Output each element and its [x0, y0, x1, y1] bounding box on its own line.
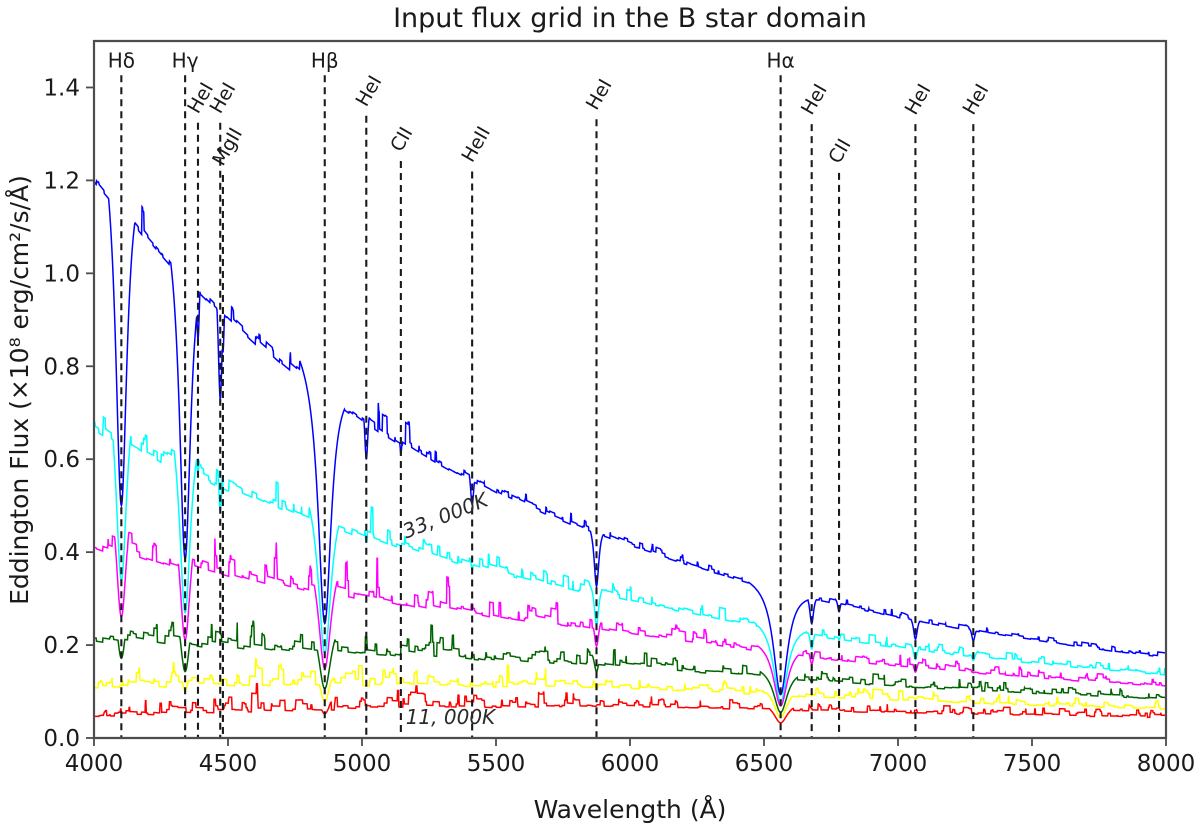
line-label-HeI-7065: HeI — [901, 80, 936, 118]
x-tick-label-5000: 5000 — [333, 751, 392, 777]
y-tick-label-0.0: 0.0 — [43, 726, 80, 752]
x-tick-label-7000: 7000 — [869, 751, 928, 777]
x-tick-label-4500: 4500 — [199, 751, 258, 777]
x-tick-label-8000: 8000 — [1137, 751, 1196, 777]
spectral-flux-chart: Input flux grid in the B star domain HδH… — [0, 0, 1200, 830]
y-tick-label-0.2: 0.2 — [43, 633, 80, 659]
y-tick-label-0.8: 0.8 — [43, 354, 80, 380]
spectrum-curve-33000K — [94, 181, 1166, 695]
spectrum-curve-13000K — [94, 659, 1166, 718]
line-label-HeII-5411: HeII — [457, 123, 495, 166]
line-label-CII-5145: CII — [386, 123, 417, 155]
line-label-HeI-4471: HeI — [206, 79, 241, 117]
spectral-line-markers: HδHγHeIHeIMgIIHβHeICIIHeIIHeIHαHeICIIHeI… — [108, 48, 994, 738]
annotation-11000K: 11, 000K — [406, 705, 497, 729]
y-axis-title: Eddington Flux (×10⁸ erg/cm²/s/Å) — [5, 175, 34, 605]
x-tick-label-4000: 4000 — [65, 751, 124, 777]
y-tick-label-1.2: 1.2 — [43, 168, 80, 194]
x-tick-label-6000: 6000 — [601, 751, 660, 777]
y-tick-label-1.0: 1.0 — [43, 261, 80, 287]
x-tick-label-7500: 7500 — [1003, 751, 1062, 777]
spectrum-curve-20000K — [94, 532, 1166, 705]
line-label-HeI-5875: HeI — [582, 75, 617, 113]
spectrum-curve-25000K — [94, 417, 1166, 702]
line-label-H-4340: Hγ — [172, 48, 199, 72]
line-label-HeI-6678: HeI — [797, 80, 832, 118]
y-tick-label-0.4: 0.4 — [43, 540, 80, 566]
spectra-curves — [94, 181, 1166, 723]
line-label-CII-6780: CII — [824, 135, 855, 167]
chart-canvas: Input flux grid in the B star domain HδH… — [0, 0, 1200, 830]
line-label-H-4861: Hβ — [311, 48, 339, 72]
x-tick-label-5500: 5500 — [467, 751, 526, 777]
line-label-H-4102: Hδ — [108, 48, 135, 72]
line-label-MgII-4481: MgII — [208, 124, 247, 169]
line-label-HeI-7281: HeI — [959, 80, 994, 118]
annotation-33000K: 33, 000K — [399, 487, 493, 543]
x-axis-title: Wavelength (Å) — [534, 795, 727, 824]
y-tick-label-1.4: 1.4 — [43, 75, 80, 101]
y-tick-label-0.6: 0.6 — [43, 447, 80, 473]
line-label-HeI-5016: HeI — [352, 72, 387, 110]
line-label-H-6562: Hα — [767, 48, 795, 72]
chart-title: Input flux grid in the B star domain — [393, 3, 867, 34]
x-tick-label-6500: 6500 — [735, 751, 794, 777]
